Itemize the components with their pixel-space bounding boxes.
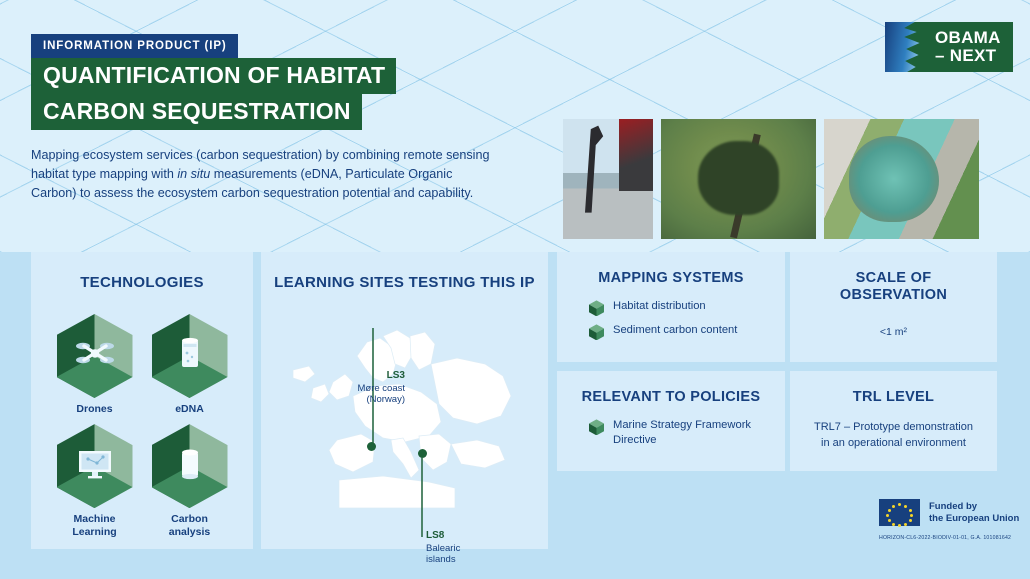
list-item: Habitat distribution [589, 299, 785, 316]
trl-level-panel: TRL LEVEL TRL7 – Prototype demonstration… [790, 371, 997, 471]
scale-title-line-1: SCALE OF [790, 270, 997, 287]
learning-sites-panel: LEARNING SITES TESTING THIS IP [261, 252, 548, 549]
trl-level-description: TRL7 – Prototype demonstration in an ope… [790, 406, 997, 450]
eu-funding-line-1: Funded by [929, 501, 1019, 513]
technology-item-drones: Drones [47, 314, 142, 416]
policy-line-2: Directive [613, 434, 657, 446]
sample-tube-icon [152, 314, 228, 398]
list-item: Sediment carbon content [589, 323, 785, 340]
cube-bullet-icon [589, 324, 604, 340]
europe-map-svg [279, 312, 531, 522]
list-item: Marine Strategy Framework Directive [589, 418, 785, 448]
trl-level-title: TRL LEVEL [790, 371, 997, 406]
logo-line-1: OBAMA [935, 29, 1007, 47]
ls8-name-line-2: islands [426, 554, 456, 565]
policy-marine-strategy-framework-directive: Marine Strategy Framework Directive [613, 418, 751, 448]
technology-label-carbon-line-2: analysis [142, 526, 237, 539]
relevant-to-policies-panel: RELEVANT TO POLICIES Marine Strategy Fra… [557, 371, 785, 471]
logo-line-2: – NEXT [935, 47, 1007, 65]
mapping-system-sediment-carbon-content: Sediment carbon content [613, 323, 737, 338]
trl-line-1: TRL7 – Prototype demonstration [806, 420, 981, 435]
eu-flag-icon [879, 499, 920, 526]
eu-funding-line-2: the European Union [929, 513, 1019, 525]
ls3-site-label: LS3 Møre coast (Norway) [313, 370, 405, 406]
sample-tube-glyph [152, 334, 228, 373]
technology-item-carbon-analysis: Carbon analysis [142, 424, 237, 539]
cylinder-sample-icon [152, 424, 228, 508]
ls8-name-line-1: Balearic [426, 543, 460, 554]
drone-icon [57, 314, 133, 398]
scale-of-observation-panel: SCALE OF OBSERVATION <1 m² [790, 252, 997, 362]
relevant-to-policies-title: RELEVANT TO POLICIES [557, 371, 785, 406]
aerial-coastal-lagoon-photo [824, 119, 979, 239]
scale-of-observation-value: <1 m² [790, 305, 997, 339]
scale-of-observation-title: SCALE OF OBSERVATION [790, 252, 997, 305]
information-product-badge: INFORMATION PRODUCT (IP) [31, 34, 238, 58]
mapping-system-habitat-distribution: Habitat distribution [613, 299, 706, 314]
technology-label-carbon-analysis: Carbon analysis [142, 513, 237, 539]
technology-label-carbon-line-1: Carbon [142, 513, 237, 526]
logo-wordmark: OBAMA – NEXT [933, 22, 1013, 72]
grant-agreement-number: HORIZON-CL6-2022-BIODIV-01-01, G.A. 1010… [879, 535, 1011, 541]
mapping-systems-list: Habitat distribution Sediment carbon con… [557, 287, 785, 340]
drone-glyph [57, 334, 133, 373]
eu-funding-text: Funded by the European Union [929, 501, 1019, 525]
cube-bullet-icon [589, 300, 604, 316]
ls3-map-marker[interactable] [367, 442, 376, 451]
technology-label-ml-line-1: Machine [47, 513, 142, 526]
mapping-systems-title: MAPPING SYSTEMS [557, 252, 785, 287]
page-title-line-1: QUANTIFICATION OF HABITAT [31, 58, 396, 94]
page-title-line-2: CARBON SEQUESTRATION [31, 94, 362, 130]
cylinder-sample-glyph [152, 444, 228, 483]
technologies-title: TECHNOLOGIES [31, 252, 253, 292]
technologies-panel: TECHNOLOGIES [31, 252, 253, 549]
ls3-name-line-2: (Norway) [366, 394, 405, 405]
policies-list: Marine Strategy Framework Directive [557, 406, 785, 448]
logo-gradient-mark [885, 22, 933, 72]
page-title: QUANTIFICATION OF HABITAT CARBON SEQUEST… [31, 58, 396, 130]
technology-label-edna: eDNA [142, 403, 237, 416]
ls8-code: LS8 [426, 530, 444, 541]
technology-item-machine-learning: Machine Learning [47, 424, 142, 539]
monitor-glyph [57, 444, 133, 483]
ls8-leader-line [420, 457, 424, 539]
europe-map: LS3 Møre coast (Norway) LS8 Balearic isl… [261, 302, 548, 542]
eu-funding-block: Funded by the European Union [879, 499, 1019, 526]
technology-label-drones: Drones [47, 403, 142, 416]
technology-label-machine-learning: Machine Learning [47, 513, 142, 539]
photo-strip [563, 119, 979, 239]
technology-item-edna: eDNA [142, 314, 237, 416]
learning-sites-title: LEARNING SITES TESTING THIS IP [261, 252, 548, 292]
trl-line-2: in an operational environment [806, 436, 981, 451]
technology-label-ml-line-2: Learning [47, 526, 142, 539]
obama-next-logo: OBAMA – NEXT [885, 22, 1013, 72]
monitor-icon [57, 424, 133, 508]
mapping-systems-panel: MAPPING SYSTEMS Habitat distribution Sed… [557, 252, 785, 362]
ls8-site-label: LS8 Balearic islands [426, 530, 536, 566]
infographic-stage: INFORMATION PRODUCT (IP) QUANTIFICATION … [0, 0, 1030, 579]
cube-bullet-icon [589, 419, 604, 435]
description-italic: in situ [177, 167, 210, 181]
policy-line-1: Marine Strategy Framework [613, 419, 751, 431]
ls3-code: LS3 [387, 370, 405, 381]
description-paragraph: Mapping ecosystem services (carbon seque… [31, 146, 501, 203]
technologies-grid: Drones [31, 292, 253, 539]
scale-title-line-2: OBSERVATION [790, 287, 997, 304]
underwater-diver-quadrat-photo [661, 119, 816, 239]
ls3-name-line-1: Møre coast [357, 383, 405, 394]
vessel-deck-equipment-photo [563, 119, 653, 239]
